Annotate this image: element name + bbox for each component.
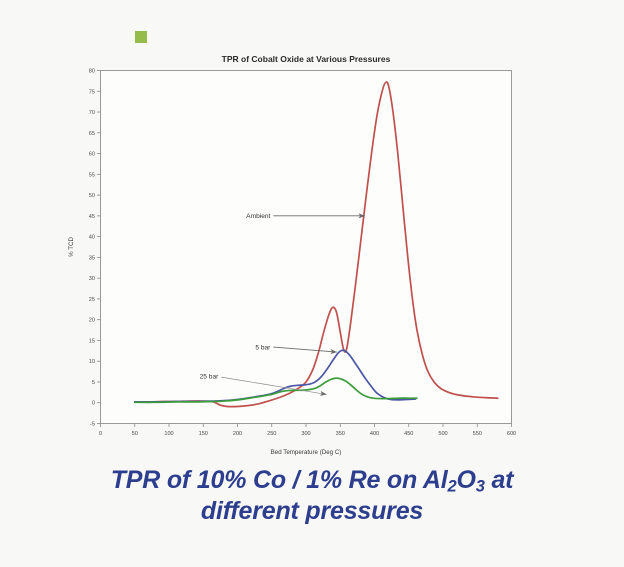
y-tick-label: 55 (89, 172, 95, 178)
y-tick-label: 5 (92, 380, 95, 386)
slide-canvas: TPR of Cobalt Oxide at Various Pressures… (0, 0, 624, 567)
y-axis-title: % TCD (68, 237, 75, 257)
slide-caption: TPR of 10% Co / 1% Re on Al2O3 at differ… (0, 466, 624, 526)
caption-line1-post: at (485, 466, 514, 494)
caption-line1-mid: O (456, 466, 475, 494)
y-tick-label: 65 (89, 131, 95, 137)
y-tick-label: -5 (90, 422, 95, 428)
y-tick-label: 20 (89, 318, 95, 324)
x-tick-label: 500 (438, 431, 447, 437)
y-tick-label: 45 (89, 214, 95, 220)
x-tick-label: 150 (199, 431, 208, 437)
x-tick-label: 400 (370, 431, 379, 437)
tpr-line-chart: TPR of Cobalt Oxide at Various Pressures… (0, 45, 624, 465)
x-tick-label: 450 (404, 431, 413, 437)
y-tick-label: 35 (89, 255, 95, 261)
caption-line1-pre: TPR of 10% Co / 1% Re on Al (111, 466, 448, 494)
plot-frame (101, 71, 512, 424)
annotation-label-ambient: Ambient (246, 213, 270, 220)
x-tick-label: 50 (132, 431, 138, 437)
y-tick-label: 15 (89, 338, 95, 344)
x-tick-label: 0 (99, 431, 102, 437)
x-axis-ticks: 050100150200250300350400450500550600 (99, 424, 516, 438)
x-tick-label: 600 (507, 431, 516, 437)
caption-sub-3: 3 (476, 478, 485, 496)
x-axis-title: Bed Temperature (Deg C) (271, 449, 342, 456)
caption-line-2: different pressures (201, 497, 423, 525)
y-tick-label: 50 (89, 193, 95, 199)
y-tick-label: 25 (89, 297, 95, 303)
x-tick-label: 350 (336, 431, 345, 437)
y-axis-ticks: -505101520253035404550556065707580 (89, 69, 101, 428)
x-tick-label: 300 (301, 431, 310, 437)
annotation-label-5-bar: 5 bar (255, 344, 271, 351)
x-tick-label: 250 (267, 431, 276, 437)
caption-line-1: TPR of 10% Co / 1% Re on Al2O3 at (111, 466, 514, 494)
x-tick-label: 200 (233, 431, 242, 437)
y-tick-label: 70 (89, 110, 95, 116)
y-tick-label: 0 (92, 401, 95, 407)
chart-title: TPR of Cobalt Oxide at Various Pressures (222, 54, 391, 64)
annotation-label-25-bar: 25 bar (200, 373, 220, 380)
y-tick-label: 40 (89, 235, 95, 241)
green-square-marker (135, 31, 147, 43)
y-tick-label: 30 (89, 276, 95, 282)
x-tick-label: 100 (164, 431, 173, 437)
y-tick-label: 60 (89, 152, 95, 158)
y-tick-label: 75 (89, 89, 95, 95)
chart-figure: TPR of Cobalt Oxide at Various Pressures… (0, 45, 624, 465)
y-tick-label: 80 (89, 69, 95, 75)
y-tick-label: 10 (89, 359, 95, 365)
x-tick-label: 550 (473, 431, 482, 437)
